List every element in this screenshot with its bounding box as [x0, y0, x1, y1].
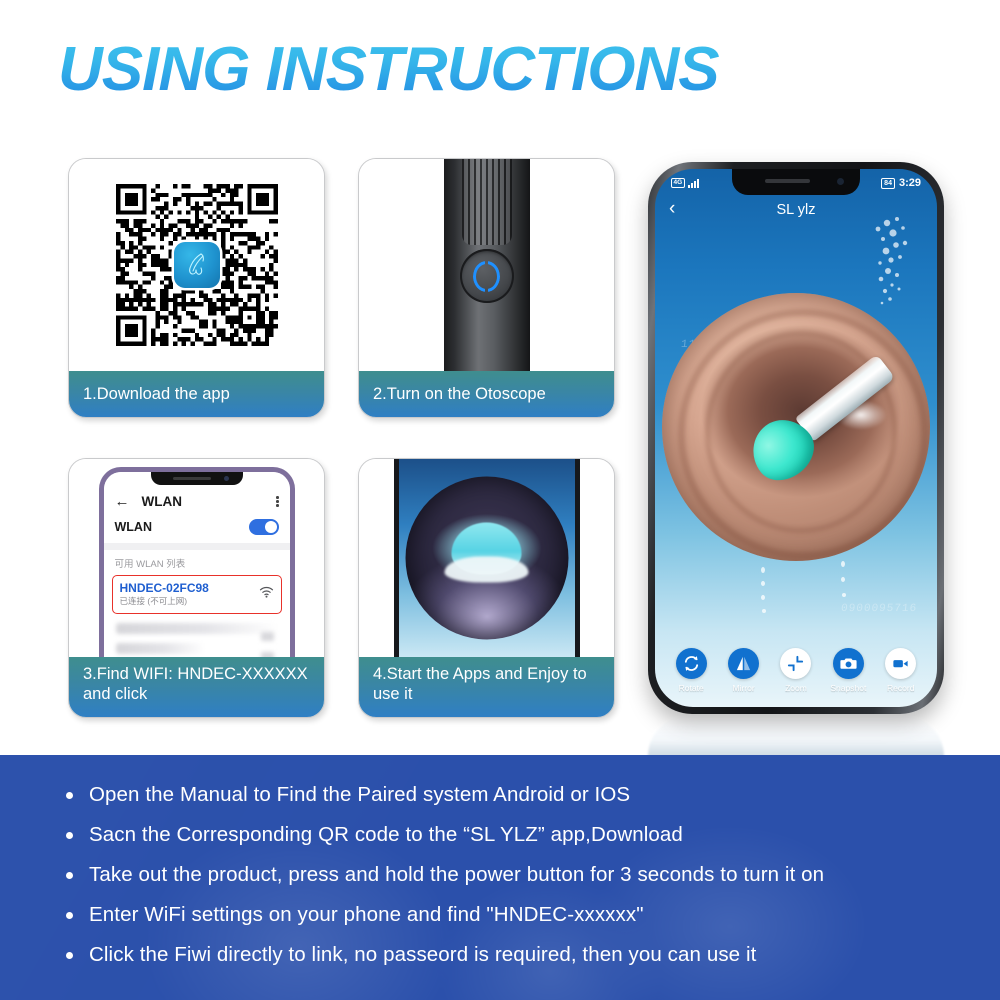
- wlan-appbar-title: WLAN: [142, 494, 183, 509]
- toolbar-button-rotate[interactable]: Rotate: [666, 648, 716, 693]
- wlan-settings-screen: ← WLAN WLAN 可用 WLAN 列表 HNDEC-02FC98 已连接 …: [104, 472, 290, 657]
- water-drop: [761, 581, 765, 586]
- blurred-network-row: [116, 623, 278, 634]
- wlan-phone-mockup: ← WLAN WLAN 可用 WLAN 列表 HNDEC-02FC98 已连接 …: [99, 467, 295, 657]
- note-item: Click the Fiwi directly to link, no pass…: [66, 941, 1000, 969]
- wlan-toggle-label: WLAN: [115, 520, 153, 534]
- toolbar-button-record[interactable]: Record: [876, 648, 926, 693]
- wifi-icon: [259, 585, 274, 603]
- battery-icon: 84: [881, 178, 895, 189]
- network-type-icon: 4G: [671, 178, 685, 188]
- note-item: Take out the product, press and hold the…: [66, 861, 1000, 889]
- note-text: Click the Fiwi directly to link, no pass…: [89, 941, 756, 969]
- blurred-network-row: [116, 643, 205, 654]
- front-camera: [224, 476, 229, 481]
- back-chevron-icon[interactable]: ‹: [669, 199, 675, 219]
- available-networks-label: 可用 WLAN 列表: [104, 550, 290, 574]
- earpiece-speaker: [765, 179, 810, 183]
- step-card-3: ← WLAN WLAN 可用 WLAN 列表 HNDEC-02FC98 已连接 …: [68, 458, 325, 718]
- app-title: SL ylz: [777, 202, 816, 218]
- note-item: Enter WiFi settings on your phone and fi…: [66, 901, 1000, 929]
- note-text: Enter WiFi settings on your phone and fi…: [89, 901, 644, 929]
- signal-bars-icon: [688, 179, 699, 188]
- water-drop: [841, 561, 845, 567]
- water-drop: [761, 595, 765, 600]
- phone-screen: 4G 84 3:29 ‹ SL ylz: [655, 169, 937, 707]
- rotate-icon: [676, 648, 707, 679]
- phone-notch: [151, 472, 243, 485]
- sl-ylz-app-icon: [174, 242, 220, 288]
- wlan-toggle[interactable]: [249, 519, 279, 535]
- camcorder-glyph: [891, 654, 910, 673]
- water-drop: [761, 567, 765, 573]
- otoscope-camera-circle: [405, 477, 568, 640]
- phone-reflection: [648, 716, 944, 760]
- toolbar-label: Snapshot: [830, 683, 866, 693]
- otoscope-handle: [444, 159, 530, 371]
- bullet-dot: [66, 872, 73, 879]
- earpiece-speaker: [173, 477, 211, 480]
- wifi-network-name: HNDEC-02FC98: [120, 581, 209, 595]
- handle-grooves: [462, 159, 512, 245]
- record-icon: [885, 648, 916, 679]
- blurred-network-icon: [261, 632, 274, 641]
- bubbles-decoration: [845, 215, 915, 310]
- front-camera: [837, 178, 844, 185]
- wlan-toggle-row[interactable]: WLAN: [104, 513, 290, 543]
- wlan-appbar: ← WLAN: [104, 487, 290, 513]
- app-logo-icon: [181, 249, 213, 281]
- note-item: Open the Manual to Find the Paired syste…: [66, 781, 1000, 809]
- step-2-caption: 2.Turn on the Otoscope: [359, 371, 614, 417]
- status-bar-time: 3:29: [899, 177, 921, 189]
- otoscope-glow: [445, 556, 529, 582]
- power-icon: [473, 261, 500, 292]
- step-3-caption: 3.Find WIFI: HNDEC-XXXXXX and click: [69, 657, 324, 717]
- wifi-network-status: 已连接 (不可上网): [120, 595, 209, 607]
- back-arrow-icon[interactable]: ←: [115, 494, 130, 509]
- step-3-visual: ← WLAN WLAN 可用 WLAN 列表 HNDEC-02FC98 已连接 …: [69, 459, 324, 657]
- camera-glyph: [839, 654, 858, 673]
- qr-code[interactable]: [116, 184, 278, 346]
- phone-mockup: 4G 84 3:29 ‹ SL ylz: [648, 162, 944, 714]
- wifi-network-item[interactable]: HNDEC-02FC98 已连接 (不可上网): [112, 575, 282, 614]
- mirror-glyph: [734, 654, 753, 673]
- toolbar-label: Zoom: [785, 683, 807, 693]
- toolbar-button-snapshot[interactable]: Snapshot: [823, 648, 873, 693]
- note-text: Sacn the Corresponding QR code to the “S…: [89, 821, 683, 849]
- step-4-caption: 4.Start the Apps and Enjoy to use it: [359, 657, 614, 717]
- screen-watermark: 0900095716: [840, 603, 917, 615]
- page-title: USING INSTRUCTIONS: [58, 34, 719, 105]
- step-card-2: 2.Turn on the Otoscope: [358, 158, 615, 418]
- step-card-4: 4.Start the Apps and Enjoy to use it: [358, 458, 615, 718]
- mirror-icon: [728, 648, 759, 679]
- kebab-menu-icon[interactable]: [276, 495, 279, 509]
- bullet-dot: [66, 832, 73, 839]
- zoom-glyph: [786, 654, 805, 673]
- toolbar-button-zoom[interactable]: Zoom: [771, 648, 821, 693]
- water-drop: [842, 593, 846, 597]
- toolbar-label: Mirror: [732, 683, 754, 693]
- toggle-knob: [265, 521, 277, 533]
- toolbar-label: Rotate: [679, 683, 704, 693]
- bullet-dot: [66, 792, 73, 799]
- water-drop: [841, 577, 845, 582]
- toolbar-button-mirror[interactable]: Mirror: [719, 648, 769, 693]
- step-4-visual: [359, 459, 614, 657]
- step-1-visual: [69, 159, 324, 371]
- note-item: Sacn the Corresponding QR code to the “S…: [66, 821, 1000, 849]
- phone-notch: [732, 169, 860, 195]
- wifi-signal-icon: [259, 586, 274, 598]
- bullet-dot: [66, 912, 73, 919]
- section-divider: [104, 543, 290, 550]
- water-drop: [762, 609, 766, 613]
- note-text: Open the Manual to Find the Paired syste…: [89, 781, 630, 809]
- otoscope-preview-phone: [394, 459, 580, 657]
- snapshot-icon: [833, 648, 864, 679]
- zoom-icon: [780, 648, 811, 679]
- infographic-page: USING INSTRUCTIONS: [0, 0, 1000, 1000]
- camera-toolbar: Rotate Mirror: [655, 648, 937, 693]
- bullet-dot: [66, 952, 73, 959]
- note-text: Take out the product, press and hold the…: [89, 861, 824, 889]
- notes-list: Open the Manual to Find the Paired syste…: [0, 755, 1000, 969]
- notes-panel: Open the Manual to Find the Paired syste…: [0, 755, 1000, 1000]
- power-button[interactable]: [460, 249, 514, 303]
- app-header: ‹ SL ylz: [655, 197, 937, 223]
- toolbar-label: Record: [887, 683, 914, 693]
- step-1-caption: 1.Download the app: [69, 371, 324, 417]
- step-2-visual: [359, 159, 614, 371]
- step-card-1: 1.Download the app: [68, 158, 325, 418]
- rotate-glyph: [682, 654, 701, 673]
